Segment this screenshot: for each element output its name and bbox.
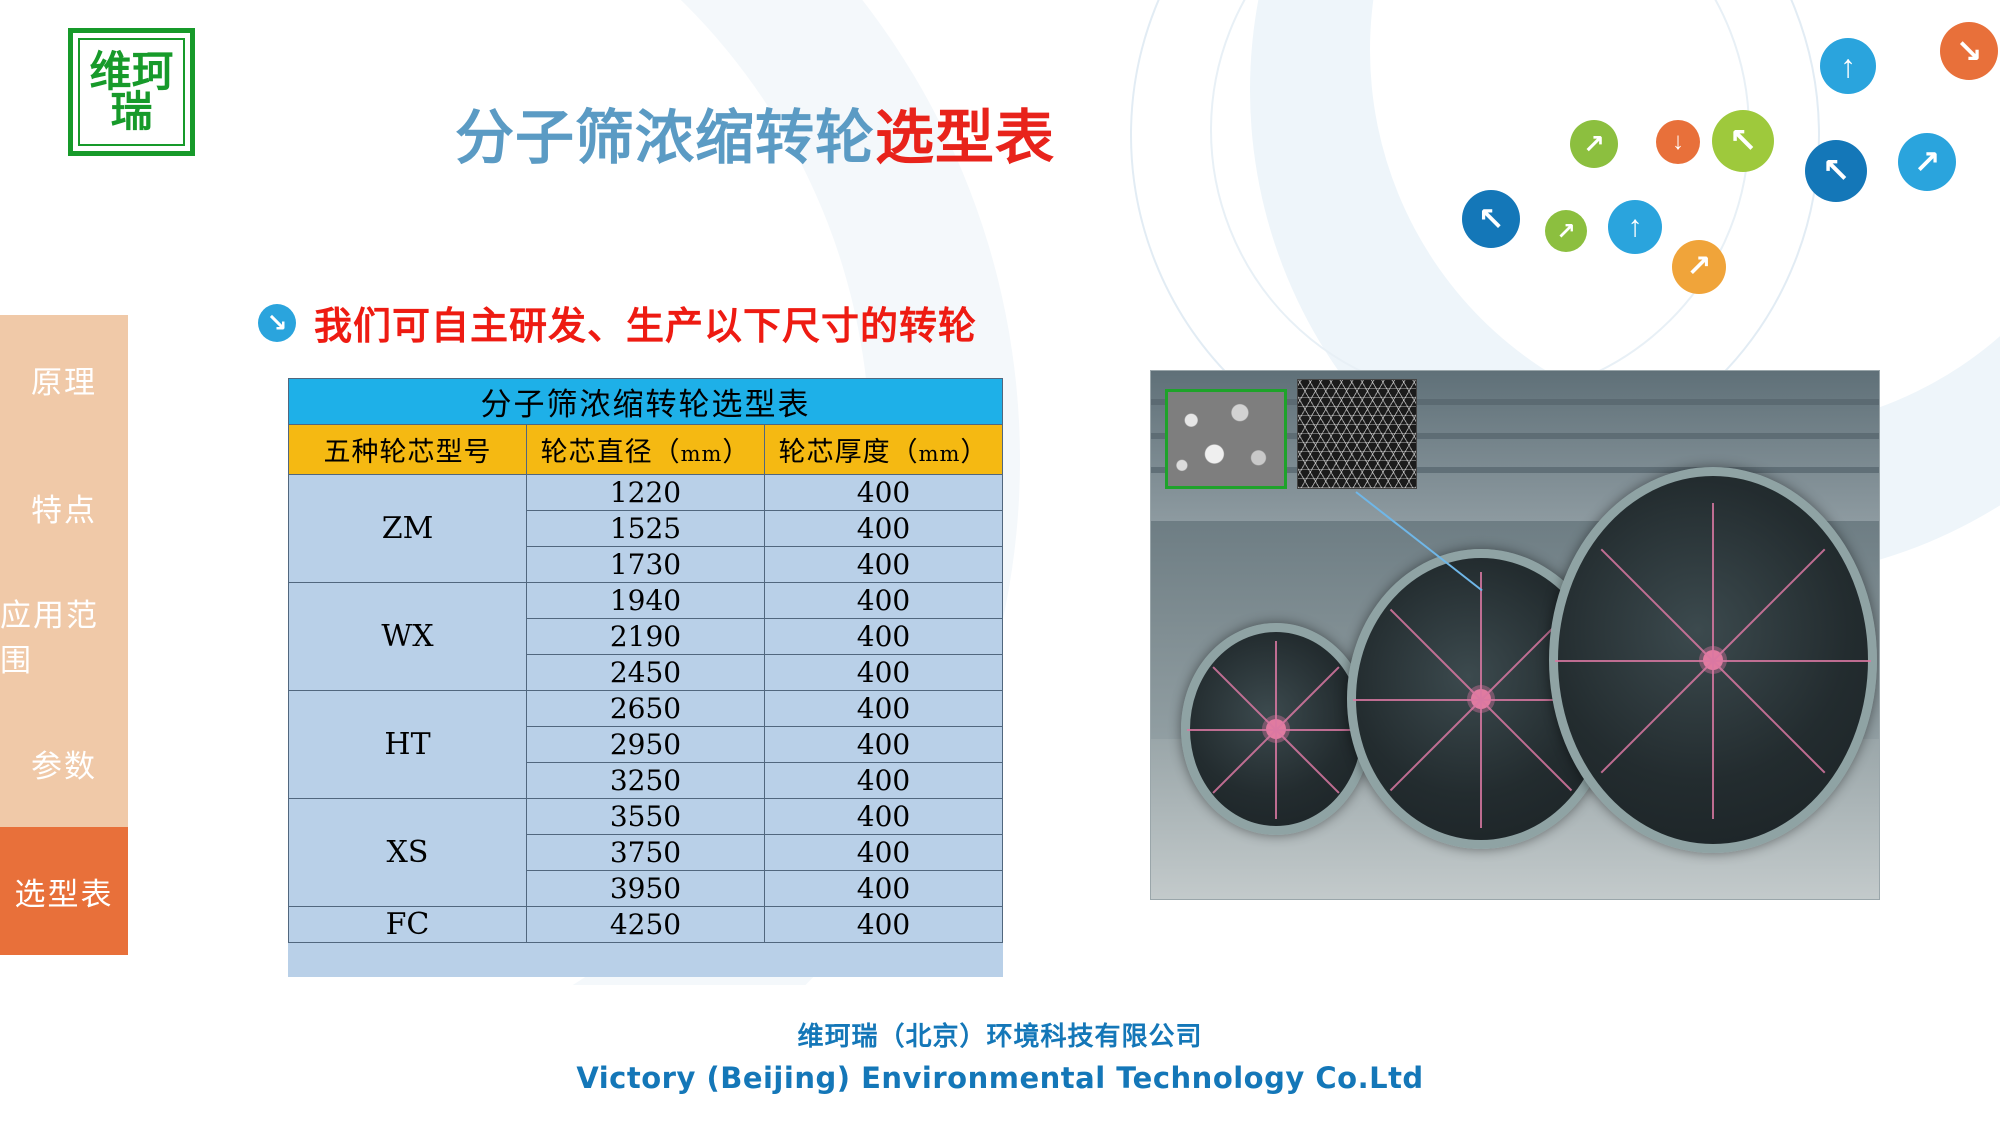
table-cell-diameter: 4250 [527,907,765,943]
table-cell-model: ZM [289,475,527,583]
arrow-up-badge-3: ↑ [1608,200,1662,254]
table-column-header-row: 五种轮芯型号轮芯直径（mm）轮芯厚度（mm） [289,425,1003,475]
footer-company-en: Victory (Beijing) Environmental Technolo… [0,1061,2000,1095]
rotor-small [1181,623,1371,835]
arrow-upright-badge-2: ↗ [1545,210,1587,252]
rotor-spoke [1187,729,1276,731]
table-cell-diameter: 1525 [527,511,765,547]
table-cell-thickness: 400 [765,799,1003,835]
col-label: 轮芯厚度（mm） [779,437,989,468]
table-cell-thickness: 400 [765,655,1003,691]
rotor-spoke [1275,730,1277,819]
table-cell-diameter: 3750 [527,835,765,871]
arrow-upleft-badge-1: ↖ [1712,110,1774,172]
arrow-upleft-badge-2: ↖ [1805,140,1867,202]
arrow-down-right-icon: ↘ [258,304,296,342]
rotor-spoke [1712,660,1825,773]
slide-canvas: 维珂 瑞 分子筛浓缩转轮选型表 ↑↘↗↓↖↖↗↖↗↑↗ 原理特点应用范围参数选型… [0,0,2000,1125]
arrow-upleft-badge-3: ↖ [1462,190,1520,248]
table-cell-diameter: 1220 [527,475,765,511]
lead-in-text: 我们可自主研发、生产以下尺寸的转轮 [314,295,977,350]
sidebar-item-label: 应用范围 [0,590,128,680]
company-logo: 维珂 瑞 [68,28,195,156]
table-cell-model: HT [289,691,527,799]
col-unit: mm [681,442,723,466]
footer-company-cn: 维珂瑞（北京）环境科技有限公司 [0,1016,2000,1053]
sidebar-item-0[interactable]: 原理 [0,315,128,443]
rotor-spoke [1480,700,1482,828]
table-cell-diameter: 2650 [527,691,765,727]
sem-texture [1168,392,1284,486]
selection-table: 分子筛浓缩转轮选型表 五种轮芯型号轮芯直径（mm）轮芯厚度（mm） ZM1220… [288,378,1003,943]
arrow-down-badge-2: ↓ [1656,120,1700,164]
sidebar-item-label: 选型表 [15,869,114,914]
sidebar-item-2[interactable]: 应用范围 [0,571,128,699]
table-body: ZM122040015254001730400WX194040021904002… [289,475,1003,943]
table-cell-diameter: 3550 [527,799,765,835]
sidebar-item-3[interactable]: 参数 [0,699,128,827]
table-cell-model: FC [289,907,527,943]
zeolite-sem-inset [1165,389,1287,489]
rotor-spoke [1601,549,1714,662]
honeycomb-texture [1298,380,1416,488]
table-row: FC4250400 [289,907,1003,943]
rotor-production-photo [1150,370,1880,900]
table-row: XS3550400 [289,799,1003,835]
arrow-down-badge-1: ↘ [1940,22,1998,80]
table-cell-thickness: 400 [765,475,1003,511]
rotor-spoke [1353,699,1481,701]
section-nav-sidebar[interactable]: 原理特点应用范围参数选型表工程案例 [0,315,128,955]
table-row: ZM1220400 [289,475,1003,511]
table-cell-diameter: 2450 [527,655,765,691]
table-column-header-2: 轮芯厚度（mm） [765,425,1003,475]
selection-table-container: 分子筛浓缩转轮选型表 五种轮芯型号轮芯直径（mm）轮芯厚度（mm） ZM1220… [288,378,1003,977]
rotor-spoke [1390,699,1482,791]
rotor-spoke [1555,660,1713,662]
table-row: WX1940400 [289,583,1003,619]
page-title-accent: 选型表 [875,103,1055,172]
sidebar-item-4[interactable]: 选型表 [0,827,128,955]
table-cell-thickness: 400 [765,547,1003,583]
table-cell-model: WX [289,583,527,691]
table-cell-thickness: 400 [765,619,1003,655]
table-cell-thickness: 400 [765,511,1003,547]
table-row: HT2650400 [289,691,1003,727]
rotor-spoke [1713,660,1871,662]
rotor-spoke [1390,609,1482,701]
rotor-spoke [1712,503,1714,661]
table-cell-thickness: 400 [765,727,1003,763]
table-cell-model: XS [289,799,527,907]
table-column-header-0: 五种轮芯型号 [289,425,527,475]
col-label: 轮芯直径（mm） [541,437,751,468]
rotor-spoke [1712,549,1825,662]
table-cell-diameter: 3950 [527,871,765,907]
sidebar-item-1[interactable]: 特点 [0,443,128,571]
page-title: 分子筛浓缩转轮选型表 [455,90,1055,175]
sidebar-item-label: 特点 [31,485,97,530]
rotor-large [1549,467,1877,853]
rotor-spoke [1275,729,1339,793]
table-cell-diameter: 2190 [527,619,765,655]
lead-in-line: ↘ 我们可自主研发、生产以下尺寸的转轮 [258,295,977,350]
table-cell-diameter: 3250 [527,763,765,799]
rotor-spoke [1212,666,1276,730]
arrow-up-badge-1: ↑ [1820,38,1876,94]
table-cell-thickness: 400 [765,691,1003,727]
sidebar-item-label: 原理 [31,357,97,402]
logo-seal-text: 维珂 瑞 [78,38,185,146]
footer: 维珂瑞（北京）环境科技有限公司 Victory (Beijing) Enviro… [0,1016,2000,1095]
table-cell-diameter: 2950 [527,727,765,763]
table-cell-thickness: 400 [765,871,1003,907]
honeycomb-structure-inset [1297,379,1417,489]
table-cell-diameter: 1940 [527,583,765,619]
rotor-spoke [1601,660,1714,773]
rotor-spoke [1712,661,1714,819]
rotor-spoke [1275,641,1277,730]
rotor-spoke [1275,666,1339,730]
arrow-upright-badge-1: ↗ [1898,133,1956,191]
sidebar-item-label: 参数 [31,741,97,786]
table-cell-thickness: 400 [765,835,1003,871]
arrow-up-badge-2: ↗ [1570,120,1618,168]
table-column-header-1: 轮芯直径（mm） [527,425,765,475]
table-cell-thickness: 400 [765,583,1003,619]
table-caption: 分子筛浓缩转轮选型表 [289,379,1003,425]
col-unit: mm [919,442,961,466]
arrow-upright-badge-3: ↗ [1672,240,1726,294]
table-cell-diameter: 1730 [527,547,765,583]
table-cell-thickness: 400 [765,907,1003,943]
page-title-primary: 分子筛浓缩转轮 [455,103,875,172]
table-cell-thickness: 400 [765,763,1003,799]
rotor-spoke [1212,729,1276,793]
